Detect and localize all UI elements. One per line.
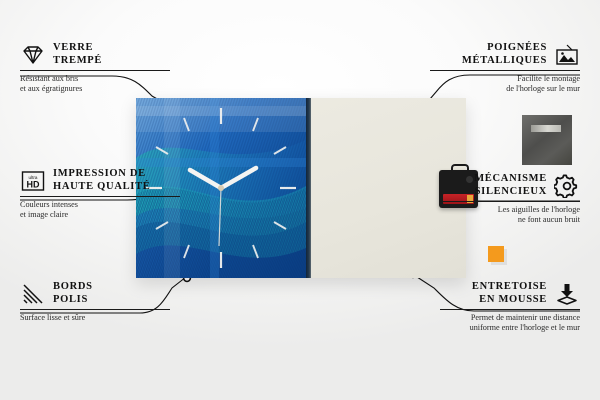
diamond-icon	[20, 43, 46, 67]
feature-poignees-metalliques: POIGNÉES MÉTALLIQUES Facilite le montage…	[430, 42, 580, 94]
feature-sub-1: Résistant aux bris	[20, 74, 170, 84]
feature-sub-1: Permet de maintenir une distance	[440, 313, 580, 323]
feature-title: BORDS POLIS	[53, 281, 93, 306]
feature-title: ENTRETOISE EN MOUSSE	[472, 281, 547, 306]
hanger-slot	[531, 125, 561, 132]
metal-hanger-plate	[522, 115, 572, 165]
picture-hanger-icon	[554, 43, 580, 67]
feature-impression-haute-qualite: ultra HD IMPRESSION DE HAUTE QUALITÉ Cou…	[20, 168, 180, 220]
ultra-hd-icon: ultra HD	[20, 169, 46, 193]
feature-bords-polis: BORDS POLIS Surface lisse et sûre	[20, 281, 170, 323]
gear-icon	[554, 174, 580, 198]
feature-sub-2: uniforme entre l'horloge et le mur	[440, 323, 580, 333]
svg-text:HD: HD	[27, 179, 40, 189]
feature-sub-1: Facilite le montage	[430, 74, 580, 84]
feature-header: ultra HD IMPRESSION DE HAUTE QUALITÉ	[20, 168, 180, 193]
feature-rule	[20, 309, 170, 310]
feature-entretoise-en-mousse: ENTRETOISE EN MOUSSE Permet de maintenir…	[440, 281, 580, 333]
feature-header: VERRE TREMPÉ	[20, 42, 170, 67]
feature-title: IMPRESSION DE HAUTE QUALITÉ	[53, 168, 151, 193]
feature-rule	[440, 201, 580, 202]
feature-sub-2: de l'horloge sur le mur	[430, 84, 580, 94]
feature-rule	[20, 70, 170, 71]
feature-title: MÉCANISME SILENCIEUX	[474, 173, 547, 198]
foam-spacer	[488, 246, 504, 262]
feature-header: POIGNÉES MÉTALLIQUES	[430, 42, 580, 67]
feature-title: POIGNÉES MÉTALLIQUES	[462, 42, 547, 67]
feature-title: VERRE TREMPÉ	[53, 42, 102, 67]
feature-mecanisme-silencieux: MÉCANISME SILENCIEUX Les aiguilles de l'…	[440, 173, 580, 225]
feature-header: MÉCANISME SILENCIEUX	[440, 173, 580, 198]
feature-rule	[430, 70, 580, 71]
polished-edge-icon	[20, 282, 46, 306]
infographic-canvas: VERRE TREMPÉ Résistant aux bris et aux é…	[0, 0, 600, 400]
feature-sub-2: ne font aucun bruit	[440, 215, 580, 225]
feature-header: BORDS POLIS	[20, 281, 170, 306]
feature-sub-1: Les aiguilles de l'horloge	[440, 205, 580, 215]
feature-sub-2: et aux égratignures	[20, 84, 170, 94]
feature-sub-2: et image claire	[20, 210, 180, 220]
feature-sub-1: Surface lisse et sûre	[20, 313, 170, 323]
foam-spacer-icon	[554, 282, 580, 306]
feature-rule	[20, 196, 180, 197]
feature-sub-1: Couleurs intenses	[20, 200, 180, 210]
feature-verre-trempe: VERRE TREMPÉ Résistant aux bris et aux é…	[20, 42, 170, 94]
feature-rule	[440, 309, 580, 310]
product-image	[136, 98, 466, 278]
feature-header: ENTRETOISE EN MOUSSE	[440, 281, 580, 306]
